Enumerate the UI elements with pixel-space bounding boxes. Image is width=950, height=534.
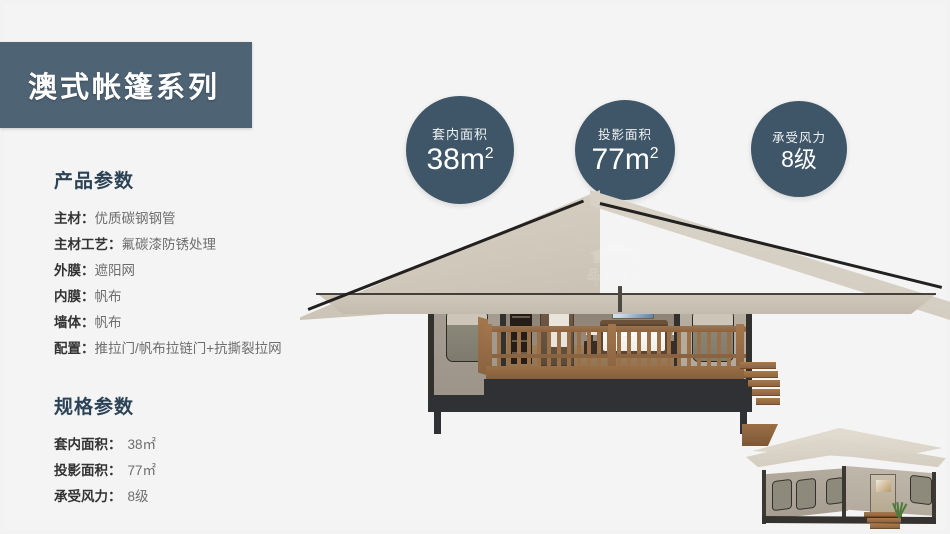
tent-roof-canopy: 品牌标识 SUPPLIER [300, 190, 950, 320]
thumb-deck-corner [742, 424, 778, 446]
param-label: 配置： [54, 341, 95, 356]
thumb-window [910, 475, 932, 506]
tent-main-illustration: 品牌标识 SUPPLIER [300, 190, 950, 450]
roof-ridge-line [316, 293, 936, 295]
stat-superscript: 2 [650, 145, 659, 162]
stat-unit: m [460, 143, 485, 176]
tent-thumbnail-render [742, 424, 950, 534]
spec-label: 套内面积： [54, 437, 122, 452]
param-label: 主材工艺： [54, 237, 122, 252]
stat-value: 8级 [781, 147, 817, 171]
stat-caption: 投影面积 [598, 124, 652, 143]
railing-post [484, 324, 492, 372]
stat-caption: 套内面积 [432, 124, 488, 143]
param-value: 遮阳网 [95, 263, 136, 278]
thumb-corner-post [842, 466, 846, 522]
slide-canvas: 澳式帐篷系列 产品参数 主材：优质碳钢钢管 主材工艺：氟碳漆防锈处理 外膜：遮阳… [0, 0, 950, 534]
stat-caption: 承受风力 [772, 127, 826, 146]
param-value: 帆布 [95, 289, 122, 304]
param-label: 外膜： [54, 263, 95, 278]
tent-base-plinth [428, 395, 752, 412]
spec-value: 38㎡ [122, 437, 157, 452]
thumb-door-artwork [876, 480, 891, 492]
spec-value: 8级 [122, 489, 149, 504]
param-label: 主材： [54, 211, 95, 226]
thumb-corner-post [762, 470, 766, 524]
spec-label: 承受风力： [54, 489, 122, 504]
support-leg-left [434, 408, 441, 434]
stat-number: 8级 [781, 146, 817, 172]
roof-edge-right [600, 202, 942, 288]
product-params-heading: 产品参数 [54, 166, 384, 193]
railing-post [608, 324, 616, 372]
thumb-corner-post [932, 472, 936, 522]
stat-circle-projected-area: 投影面积 77m2 [575, 100, 675, 200]
roof-apron [318, 294, 936, 314]
stat-value: 38m2 [426, 144, 493, 176]
param-label: 墙体： [54, 315, 95, 330]
spec-label: 投影面积： [54, 463, 122, 478]
deck-skirt [484, 379, 746, 395]
roof-center-seam [618, 286, 622, 312]
spec-row-projected-area: 投影面积：77㎡ [54, 458, 384, 484]
banner-title: 澳式帐篷系列 [28, 64, 220, 106]
stat-number: 77 [591, 143, 624, 176]
stat-circle-interior-area: 套内面积 38m2 [406, 96, 514, 204]
param-value: 帆布 [95, 315, 122, 330]
stat-number: 38 [426, 143, 459, 176]
wooden-deck [486, 366, 744, 380]
stat-unit: m [625, 143, 650, 176]
param-value: 优质碳钢钢管 [95, 211, 176, 226]
stat-value: 77m2 [591, 144, 658, 176]
thumb-plant-icon [892, 498, 906, 518]
thumb-window [796, 478, 816, 510]
deck-steps [740, 362, 780, 410]
param-value: 氟碳漆防锈处理 [122, 237, 217, 252]
thumb-base-plinth [762, 516, 936, 524]
param-value: 推拉门/帆布拉链门+抗撕裂拉网 [95, 341, 282, 356]
thumb-window [772, 479, 792, 511]
param-label: 内膜： [54, 289, 95, 304]
spec-row-wind-resistance: 承受风力：8级 [54, 484, 384, 510]
title-banner: 澳式帐篷系列 [0, 42, 252, 128]
stat-superscript: 2 [485, 145, 494, 162]
watermark-en-text: SUPPLIER [594, 283, 640, 289]
spec-value: 77㎡ [122, 463, 157, 478]
stat-circle-wind-resistance: 承受风力 8级 [751, 101, 847, 197]
